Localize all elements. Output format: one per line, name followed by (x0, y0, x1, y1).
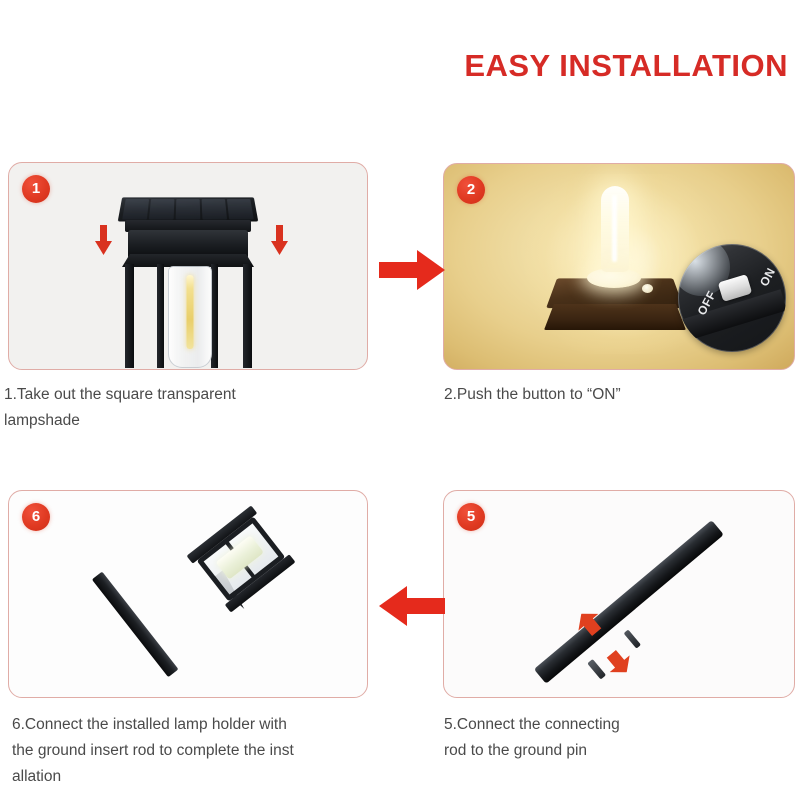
step-badge-1: 1 (22, 175, 50, 203)
ground-stake-rod (92, 571, 179, 677)
transparent-lampshade (168, 266, 212, 368)
flow-arrow-right-icon (379, 248, 445, 292)
step-caption-2: 2.Push the button to “ON” (444, 382, 796, 408)
step-panel-5: 5 (443, 490, 795, 698)
assembled-lamp-illustration (9, 491, 368, 698)
step-caption-6: 6.Connect the installed lamp holder with… (12, 712, 392, 790)
push-arrow-icon-lower (601, 645, 636, 680)
step-caption-1: 1.Take out the square transparent lampsh… (4, 382, 384, 434)
lamp-post-inner-left (157, 264, 164, 368)
flow-arrow-left-icon (379, 584, 445, 628)
page-title: EASY INSTALLATION (464, 48, 788, 84)
solar-cells (122, 199, 254, 219)
led-filament (187, 275, 194, 349)
step-panel-2: 2 OFF ON (443, 163, 795, 370)
lamp-housing (128, 230, 248, 258)
infographic-page: EASY INSTALLATION 1 1.T (0, 0, 800, 800)
step-badge-6: 6 (22, 503, 50, 531)
base-button (642, 284, 653, 293)
lamp-post-inner-right (211, 264, 218, 368)
step-panel-1: 1 (8, 162, 368, 370)
solar-panel-icon (118, 197, 259, 221)
down-arrow-icon-left (95, 225, 112, 255)
lamp-base-plate (544, 304, 686, 330)
lamp-holder-head (197, 516, 286, 601)
step-panel-6: 6 (8, 490, 368, 698)
switch-closeup-inset: OFF ON (678, 244, 786, 352)
lamp-post-left (125, 264, 134, 368)
step-caption-5: 5.Connect the connecting rod to the grou… (444, 712, 796, 764)
rod-joint-collar-upper (624, 629, 641, 648)
step-badge-5: 5 (457, 503, 485, 531)
solar-lamp-head-illustration (113, 196, 263, 368)
switch-on-label: ON (757, 265, 778, 288)
step-badge-2: 2 (457, 176, 485, 204)
lamp-post-right (243, 264, 252, 368)
down-arrow-icon-right (271, 225, 288, 255)
lit-bulb (601, 186, 629, 272)
